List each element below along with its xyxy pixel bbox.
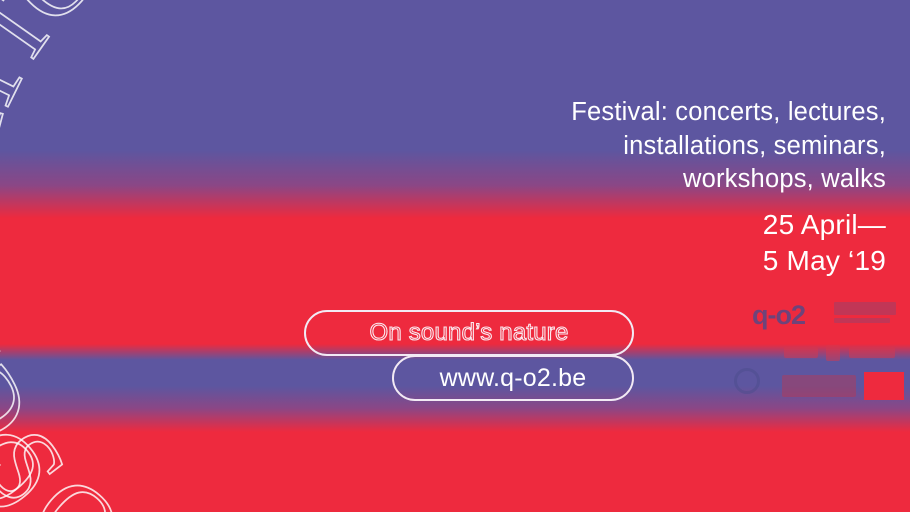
partner-logo-mark-b: [826, 345, 840, 361]
festival-dates: 25 April— 5 May ‘19: [763, 207, 886, 279]
logo-cluster: q-o2: [752, 296, 898, 406]
qo2-logo-text: q-o2: [752, 300, 805, 330]
qo2-logo: q-o2: [752, 300, 805, 331]
poster-canvas: OSCILLATION OSCILLATION OSCILLATION Fest…: [0, 0, 910, 512]
festival-line-2: installations, seminars,: [456, 130, 886, 164]
partner-logo-mark-a: [784, 347, 818, 358]
tagline-box: On sound’s nature: [304, 310, 634, 356]
partner-logo-wordmark: [834, 302, 896, 315]
partner-logo-mark-c: [849, 347, 895, 358]
website-url-box[interactable]: www.q-o2.be: [392, 355, 634, 401]
partner-logo-mark-d: [782, 375, 856, 397]
partner-logo-underline: [834, 318, 890, 323]
partner-logo-mark-e: [864, 372, 904, 400]
partner-logo-row-tertiary: [782, 372, 906, 400]
partner-logo-circle-mark: [734, 368, 760, 394]
date-line-1: 25 April—: [763, 207, 886, 243]
partner-logo-row-secondary: [784, 344, 904, 362]
date-line-2: 5 May ‘19: [763, 243, 886, 279]
festival-line-1: Festival: concerts, lectures,: [456, 96, 886, 130]
tagline-text: On sound’s nature: [369, 319, 568, 347]
partner-logo-primary: [834, 302, 896, 326]
festival-line-3: workshops, walks: [456, 163, 886, 197]
festival-description: Festival: concerts, lectures, installati…: [456, 96, 886, 197]
website-url-text[interactable]: www.q-o2.be: [440, 364, 587, 393]
